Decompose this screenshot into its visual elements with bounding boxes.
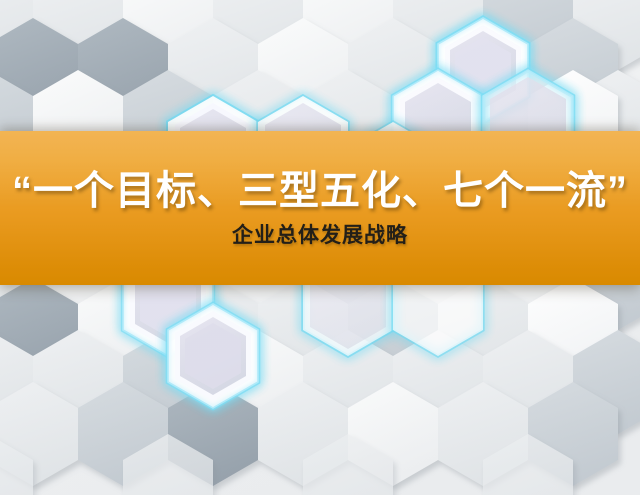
- page-subtitle: 企业总体发展战略: [232, 225, 408, 246]
- presentation-slide: “一个目标、三型五化、七个一流” 企业总体发展战略: [0, 0, 640, 495]
- title-banner: “一个目标、三型五化、七个一流” 企业总体发展战略: [0, 131, 640, 285]
- page-title: “一个目标、三型五化、七个一流”: [12, 171, 628, 211]
